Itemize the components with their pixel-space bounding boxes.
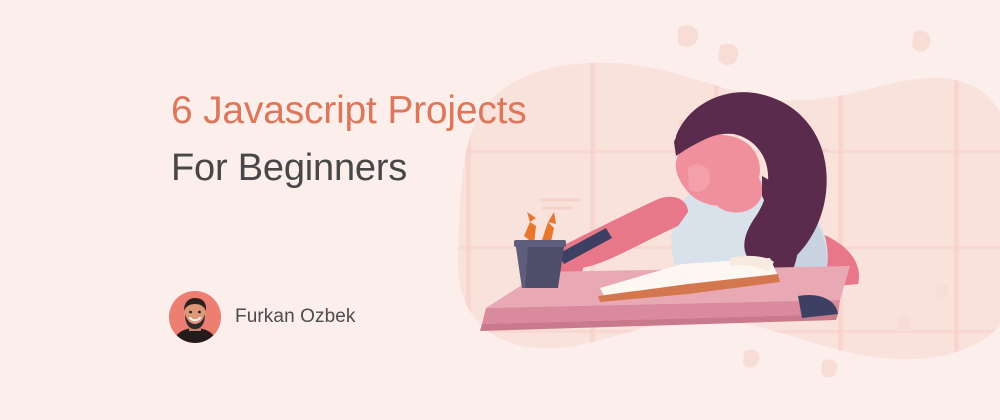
page-title: 6 Javascript Projects bbox=[171, 86, 591, 136]
leaf-icon bbox=[678, 25, 698, 47]
blog-cover-card: 6 Javascript Projects For Beginners bbox=[0, 0, 1000, 420]
author-byline: Furkan Ozbek bbox=[169, 291, 356, 343]
leaf-icon bbox=[743, 349, 759, 367]
hero-illustration bbox=[430, 0, 1000, 420]
avatar-photo bbox=[169, 291, 221, 343]
leaf-icon bbox=[912, 31, 931, 52]
leaf-icon bbox=[936, 284, 949, 299]
cup-rim bbox=[514, 240, 566, 247]
author-name: Furkan Ozbek bbox=[235, 306, 356, 328]
avatar-eye-left bbox=[189, 311, 192, 314]
avatar bbox=[169, 291, 221, 343]
heading-block: 6 Javascript Projects For Beginners bbox=[171, 86, 591, 192]
leaf-icon bbox=[718, 44, 738, 65]
page-subtitle: For Beginners bbox=[171, 144, 591, 192]
leaf-icon bbox=[821, 359, 837, 377]
avatar-eye-right bbox=[198, 311, 201, 314]
